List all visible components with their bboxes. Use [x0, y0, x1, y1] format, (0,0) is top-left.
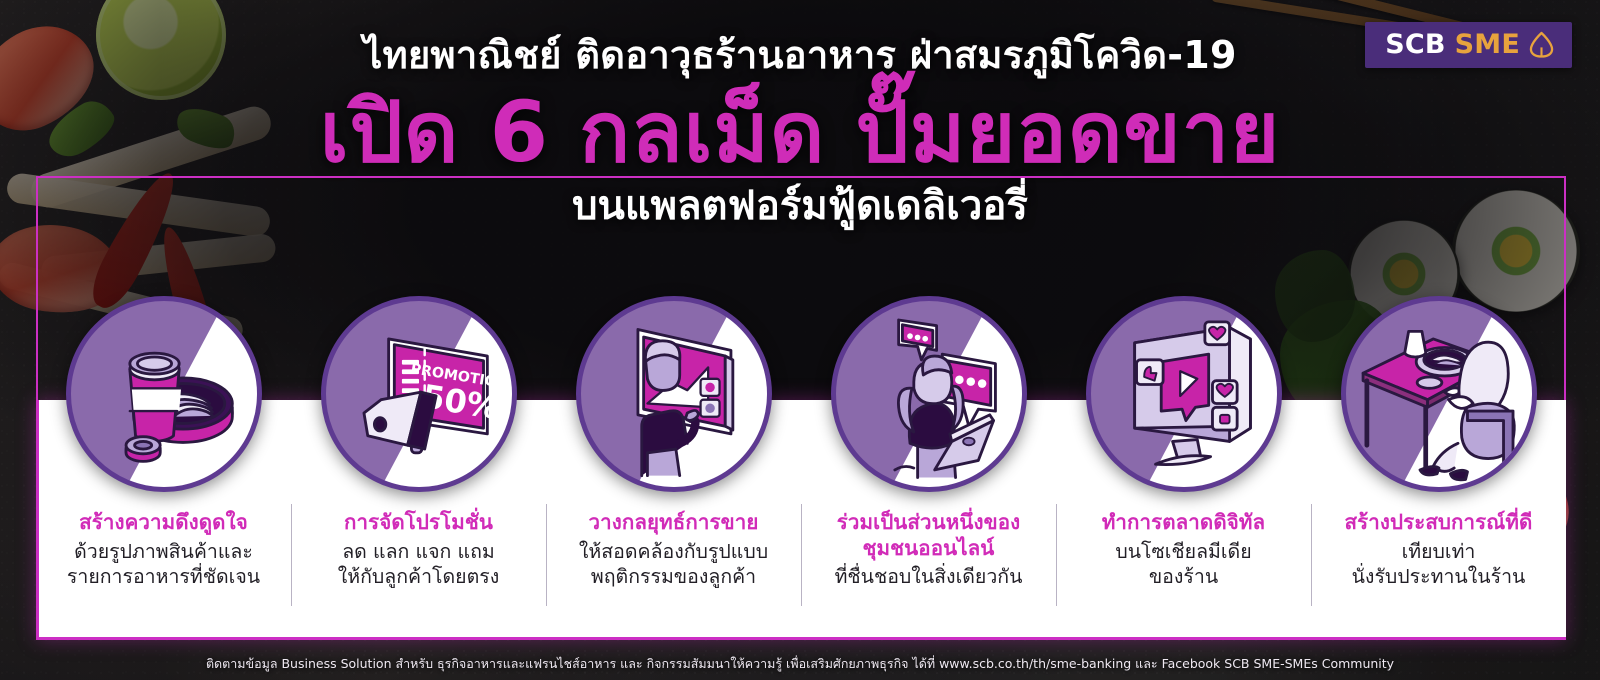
- tip-body-line: รายการอาหารที่ชัดเจน: [67, 564, 260, 589]
- person-presenting-chart-screen-icon: [576, 296, 772, 492]
- tip-body-5: บนโซเชียลมีเดีย ของร้าน: [1102, 539, 1265, 590]
- tip-caption-6: สร้างประสบการณ์ที่ดี เทียบเท่า นั่งรับปร…: [1339, 510, 1539, 589]
- tip-column-5: ทำการตลาดดิจิทัล บนโซเชียลมีเดีย ของร้าน: [1056, 296, 1311, 616]
- tip-caption-3: วางกลยุทธ์การขาย ให้สอดคล้องกับรูปแบบ พฤ…: [573, 510, 774, 589]
- tip-column-4: ร่วมเป็นส่วนหนึ่งของ ชุมชนออนไลน์ ที่ชื่…: [801, 296, 1056, 616]
- tip-caption-5: ทำการตลาดดิจิทัล บนโซเชียลมีเดีย ของร้าน: [1096, 510, 1271, 589]
- tip-body-line: ลด แลก แจก แถม: [338, 539, 500, 564]
- tip-title-3: วางกลยุทธ์การขาย: [579, 510, 768, 536]
- tip-body-line: ของร้าน: [1102, 564, 1265, 589]
- tip-body-1: ด้วยรูปภาพสินค้าและ รายการอาหารที่ชัดเจน: [67, 539, 260, 590]
- tip-body-4: ที่ชื่นชอบในสิ่งเดียวกัน: [835, 564, 1023, 589]
- headline-block: ไทยพาณิชย์ ติดอาวุธร้านอาหาร ฝ่าสมรภูมิโ…: [0, 34, 1600, 230]
- tip-body-6: เทียบเท่า นั่งรับประทานในร้าน: [1345, 539, 1533, 590]
- person-dining-at-table-icon: [1341, 296, 1537, 492]
- tip-caption-1: สร้างความดึงดูดใจ ด้วยรูปภาพสินค้าและ รา…: [61, 510, 266, 589]
- monitor-social-engagement-icon: [1086, 296, 1282, 492]
- tip-body-line: ด้วยรูปภาพสินค้าและ: [67, 539, 260, 564]
- footer-text: ติดตามข้อมูล Business Solution สำหรับ ธุ…: [0, 655, 1600, 673]
- tip-caption-4: ร่วมเป็นส่วนหนึ่งของ ชุมชนออนไลน์ ที่ชื่…: [829, 510, 1029, 590]
- tip-column-1: สร้างความดึงดูดใจ ด้วยรูปภาพสินค้าและ รา…: [36, 296, 291, 616]
- tip-body-line: เทียบเท่า: [1345, 539, 1533, 564]
- woman-laptop-chat-bubbles-icon: [831, 296, 1027, 492]
- headline-top: ไทยพาณิชย์ ติดอาวุธร้านอาหาร ฝ่าสมรภูมิโ…: [0, 34, 1600, 78]
- tip-title-line: ร่วมเป็นส่วนหนึ่งของ: [837, 510, 1020, 534]
- tip-title-4: ร่วมเป็นส่วนหนึ่งของ ชุมชนออนไลน์: [835, 510, 1023, 561]
- tip-body-3: ให้สอดคล้องกับรูปแบบ พฤติกรรมของลูกค้า: [579, 539, 768, 590]
- tip-column-3: วางกลยุทธ์การขาย ให้สอดคล้องกับรูปแบบ พฤ…: [546, 296, 801, 616]
- tip-column-6: สร้างประสบการณ์ที่ดี เทียบเท่า นั่งรับปร…: [1311, 296, 1566, 616]
- infographic-banner: SCB SME ไทยพาณิชย์ ติดอาวุธร้านอาหาร ฝ่า…: [0, 0, 1600, 680]
- headline-main: เปิด 6 กลเม็ด ปั๊มยอดขาย: [0, 88, 1600, 176]
- tip-title-2: การจัดโปรโมชั่น: [338, 510, 500, 536]
- tip-title-5: ทำการตลาดดิจิทัล: [1102, 510, 1265, 536]
- tip-body-line: นั่งรับประทานในร้าน: [1345, 564, 1533, 589]
- tip-title-line: ชุมชนออนไลน์: [835, 536, 1023, 562]
- tip-body-line: ให้กับลูกค้าโดยตรง: [338, 564, 500, 589]
- tip-caption-2: การจัดโปรโมชั่น ลด แลก แจก แถม ให้กับลูก…: [332, 510, 506, 589]
- tip-body-2: ลด แลก แจก แถม ให้กับลูกค้าโดยตรง: [338, 539, 500, 590]
- headline-sub: บนแพลตฟอร์มฟู้ดเดลิเวอรี่: [0, 182, 1600, 230]
- tip-body-line: ให้สอดคล้องกับรูปแบบ: [579, 539, 768, 564]
- tip-title-6: สร้างประสบการณ์ที่ดี: [1345, 510, 1533, 536]
- tip-body-line: ที่ชื่นชอบในสิ่งเดียวกัน: [835, 564, 1023, 589]
- tip-body-line: บนโซเชียลมีเดีย: [1102, 539, 1265, 564]
- coffee-cup-and-food-bowl-icon: [66, 296, 262, 492]
- megaphone-promotion-banner-icon: PROMOTION 50%: [321, 296, 517, 492]
- tip-title-1: สร้างความดึงดูดใจ: [67, 510, 260, 536]
- tip-column-2: PROMOTION 50% การจัดโปรโมชั่น ลด แลก แจก…: [291, 296, 546, 616]
- tips-row: สร้างความดึงดูดใจ ด้วยรูปภาพสินค้าและ รา…: [36, 296, 1566, 616]
- tip-body-line: พฤติกรรมของลูกค้า: [579, 564, 768, 589]
